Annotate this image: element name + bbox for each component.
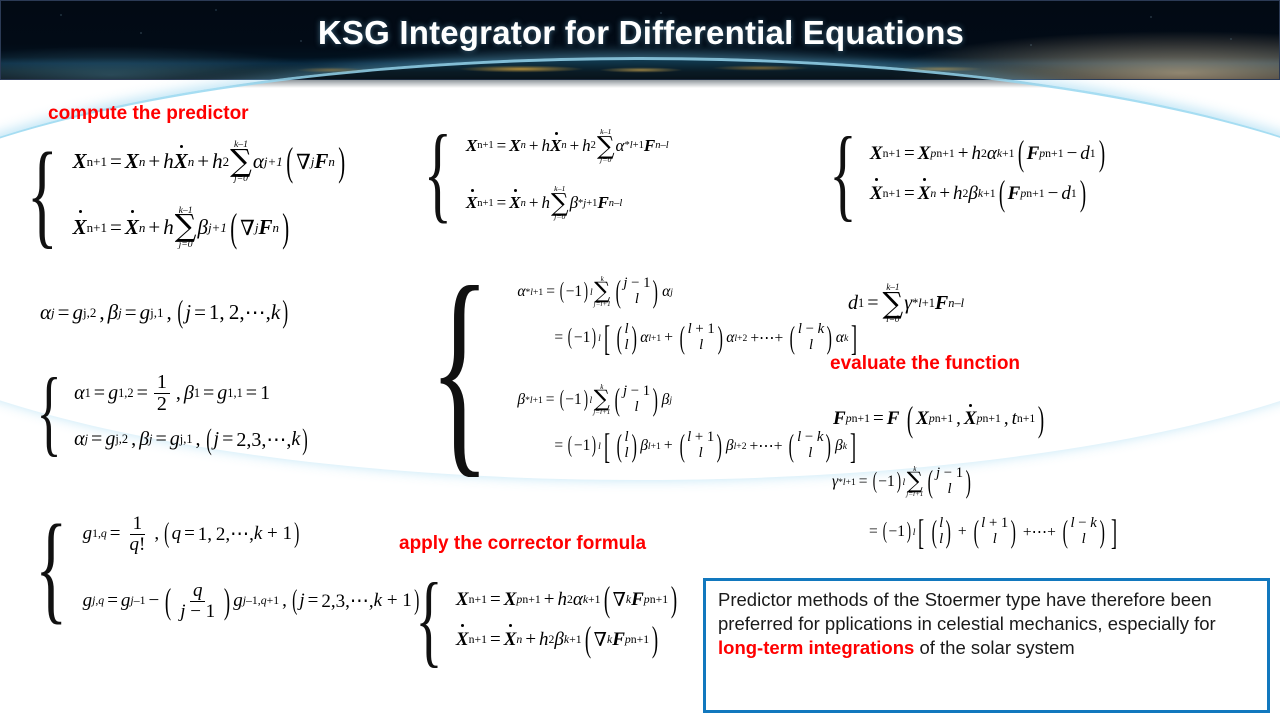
formula-right-corrector-2: Xn+1= Xn+ h2βk+1 (Fpn+1−d1) [870,183,1108,205]
formula-left-coefficient-system: { α1= g1,2= 12, β1= g1,1=1 αj= gj,2, βj=… [26,372,310,452]
formula-mid-beta-star: β*l+1= (−1)l k∑j=l+1 (j − 1l) βj = (−1)l… [517,384,860,462]
formula-right-gamma-star: γ*l+1= (−1)l k∑j=l+1 (j − 1l) = (−1)l [ … [832,466,1121,548]
formula-mid-beta-star-2: = (−1)l [ (ll) βl+1+ (l + 1l) βl+2+⋯+ (l… [551,430,860,462]
formula-left-g-recurrence: { g1,q= 1q!, (q=1, 2,⋯,k + 1) gj,q= gj–1… [22,514,421,622]
heading-apply-corrector: apply the corrector formula [399,533,646,555]
heading-compute-predictor: compute the predictor [48,103,249,125]
city-lights-decoration [1,61,1280,77]
formula-left-predictor-2: Xn+1= Xn+ h k–1∑j=0 βj+1 (∇jFn) [73,206,349,250]
summary-text-part2: of the solar system [914,637,1074,658]
formula-left-predictor-system: { Xn+1= Xn+ hXn+ h2 k–1∑j=0 αj+1 (∇jFn) … [14,140,348,249]
formula-right-corrector-system: { Xn+1= Xpn+1+ h2αk+1 (Fpn+1−d1) Xn+1= X… [818,132,1108,215]
formula-mid-alpha-star-2: = (−1)l [ (ll) αl+1+ (l + 1l) αl+2+⋯+ (l… [551,322,860,354]
formula-right-d1: d1= k–1∑l=0 γ*l+1 Fn–l [848,283,964,325]
page-title: KSG Integrator for Differential Equation… [1,14,1280,52]
formula-mid-alpha-star: α*l+1= (−1)l k∑j=l+1 (j − 1l) αj = (−1)l… [517,276,860,354]
formula-right-gamma-star-1: γ*l+1= (−1)l k∑j=l+1 (j − 1l) [832,466,1121,498]
summary-textbox: Predictor methods of the Stoermer type h… [703,578,1270,713]
summary-text-highlight: long-term integrations [718,637,914,658]
formula-left-coeff-1: α1= g1,2= 12, β1= g1,1=1 [74,372,310,415]
formula-mid-star-coefficients: { α*l+1= (−1)l k∑j=l+1 (j − 1l) αj = (−1… [404,276,860,462]
formula-left-coeff-2: αj= gj,2, βj= gj,1, (j=2,3,⋯,k) [74,427,310,452]
formula-mid-corrector-system: { Xn+1= Xpn+1+ h2αk+1 (∇kFpn+1) Xn+1= Xn… [404,578,680,661]
formula-right-gamma-star-2: = (−1)l [ (ll) + (l + 1l) +⋯+ (l − kl) ] [866,516,1121,548]
formula-mid-corrector-2: Xn+1= Xn+ h2βk+1 (∇kFpn+1) [456,629,680,651]
formula-mid-corrector-1: Xn+1= Xpn+1+ h2αk+1 (∇kFpn+1) [456,589,680,611]
formula-mid-beta-star-1: β*l+1= (−1)l k∑j=l+1 (j − 1l) βj [517,384,860,416]
formula-left-predictor-1: Xn+1= Xn+ hXn+ h2 k–1∑j=0 αj+1 (∇jFn) [73,140,349,184]
formula-left-g-1: g1,q= 1q!, (q=1, 2,⋯,k + 1) [83,514,422,555]
formula-mid-alpha-star-1: α*l+1= (−1)l k∑j=l+1 (j − 1l) αj [517,276,860,308]
formula-right-function-eval: Fpn+1= F ( Xpn+1, Xpn+1, tn+1 ) [833,408,1047,430]
formula-mid-predictor-system: { Xn+1= Xn+ hXn+ h2 k–1∑j=0 α*l+1 Fn–l X… [412,128,669,221]
summary-text-part1: Predictor methods of the Stoermer type h… [718,589,1216,634]
formula-left-g-2: gj,q= gj–1− ( qj − 1 ) gj–1,q+1, (j=2,3,… [83,581,422,622]
slide-title-banner: KSG Integrator for Differential Equation… [0,0,1280,80]
formula-left-coefficients: αj= gj,2, βj= gj,1, (j=1, 2,⋯,k) [40,300,291,325]
formula-right-corrector-1: Xn+1= Xpn+1+ h2αk+1 (Fpn+1−d1) [870,143,1108,165]
formula-mid-predictor-1: Xn+1= Xn+ hXn+ h2 k–1∑j=0 α*l+1 Fn–l [466,128,669,163]
formula-mid-predictor-2: Xn+1= Xn+ h k–1∑j=0 β*j+1 Fn–l [466,185,669,220]
